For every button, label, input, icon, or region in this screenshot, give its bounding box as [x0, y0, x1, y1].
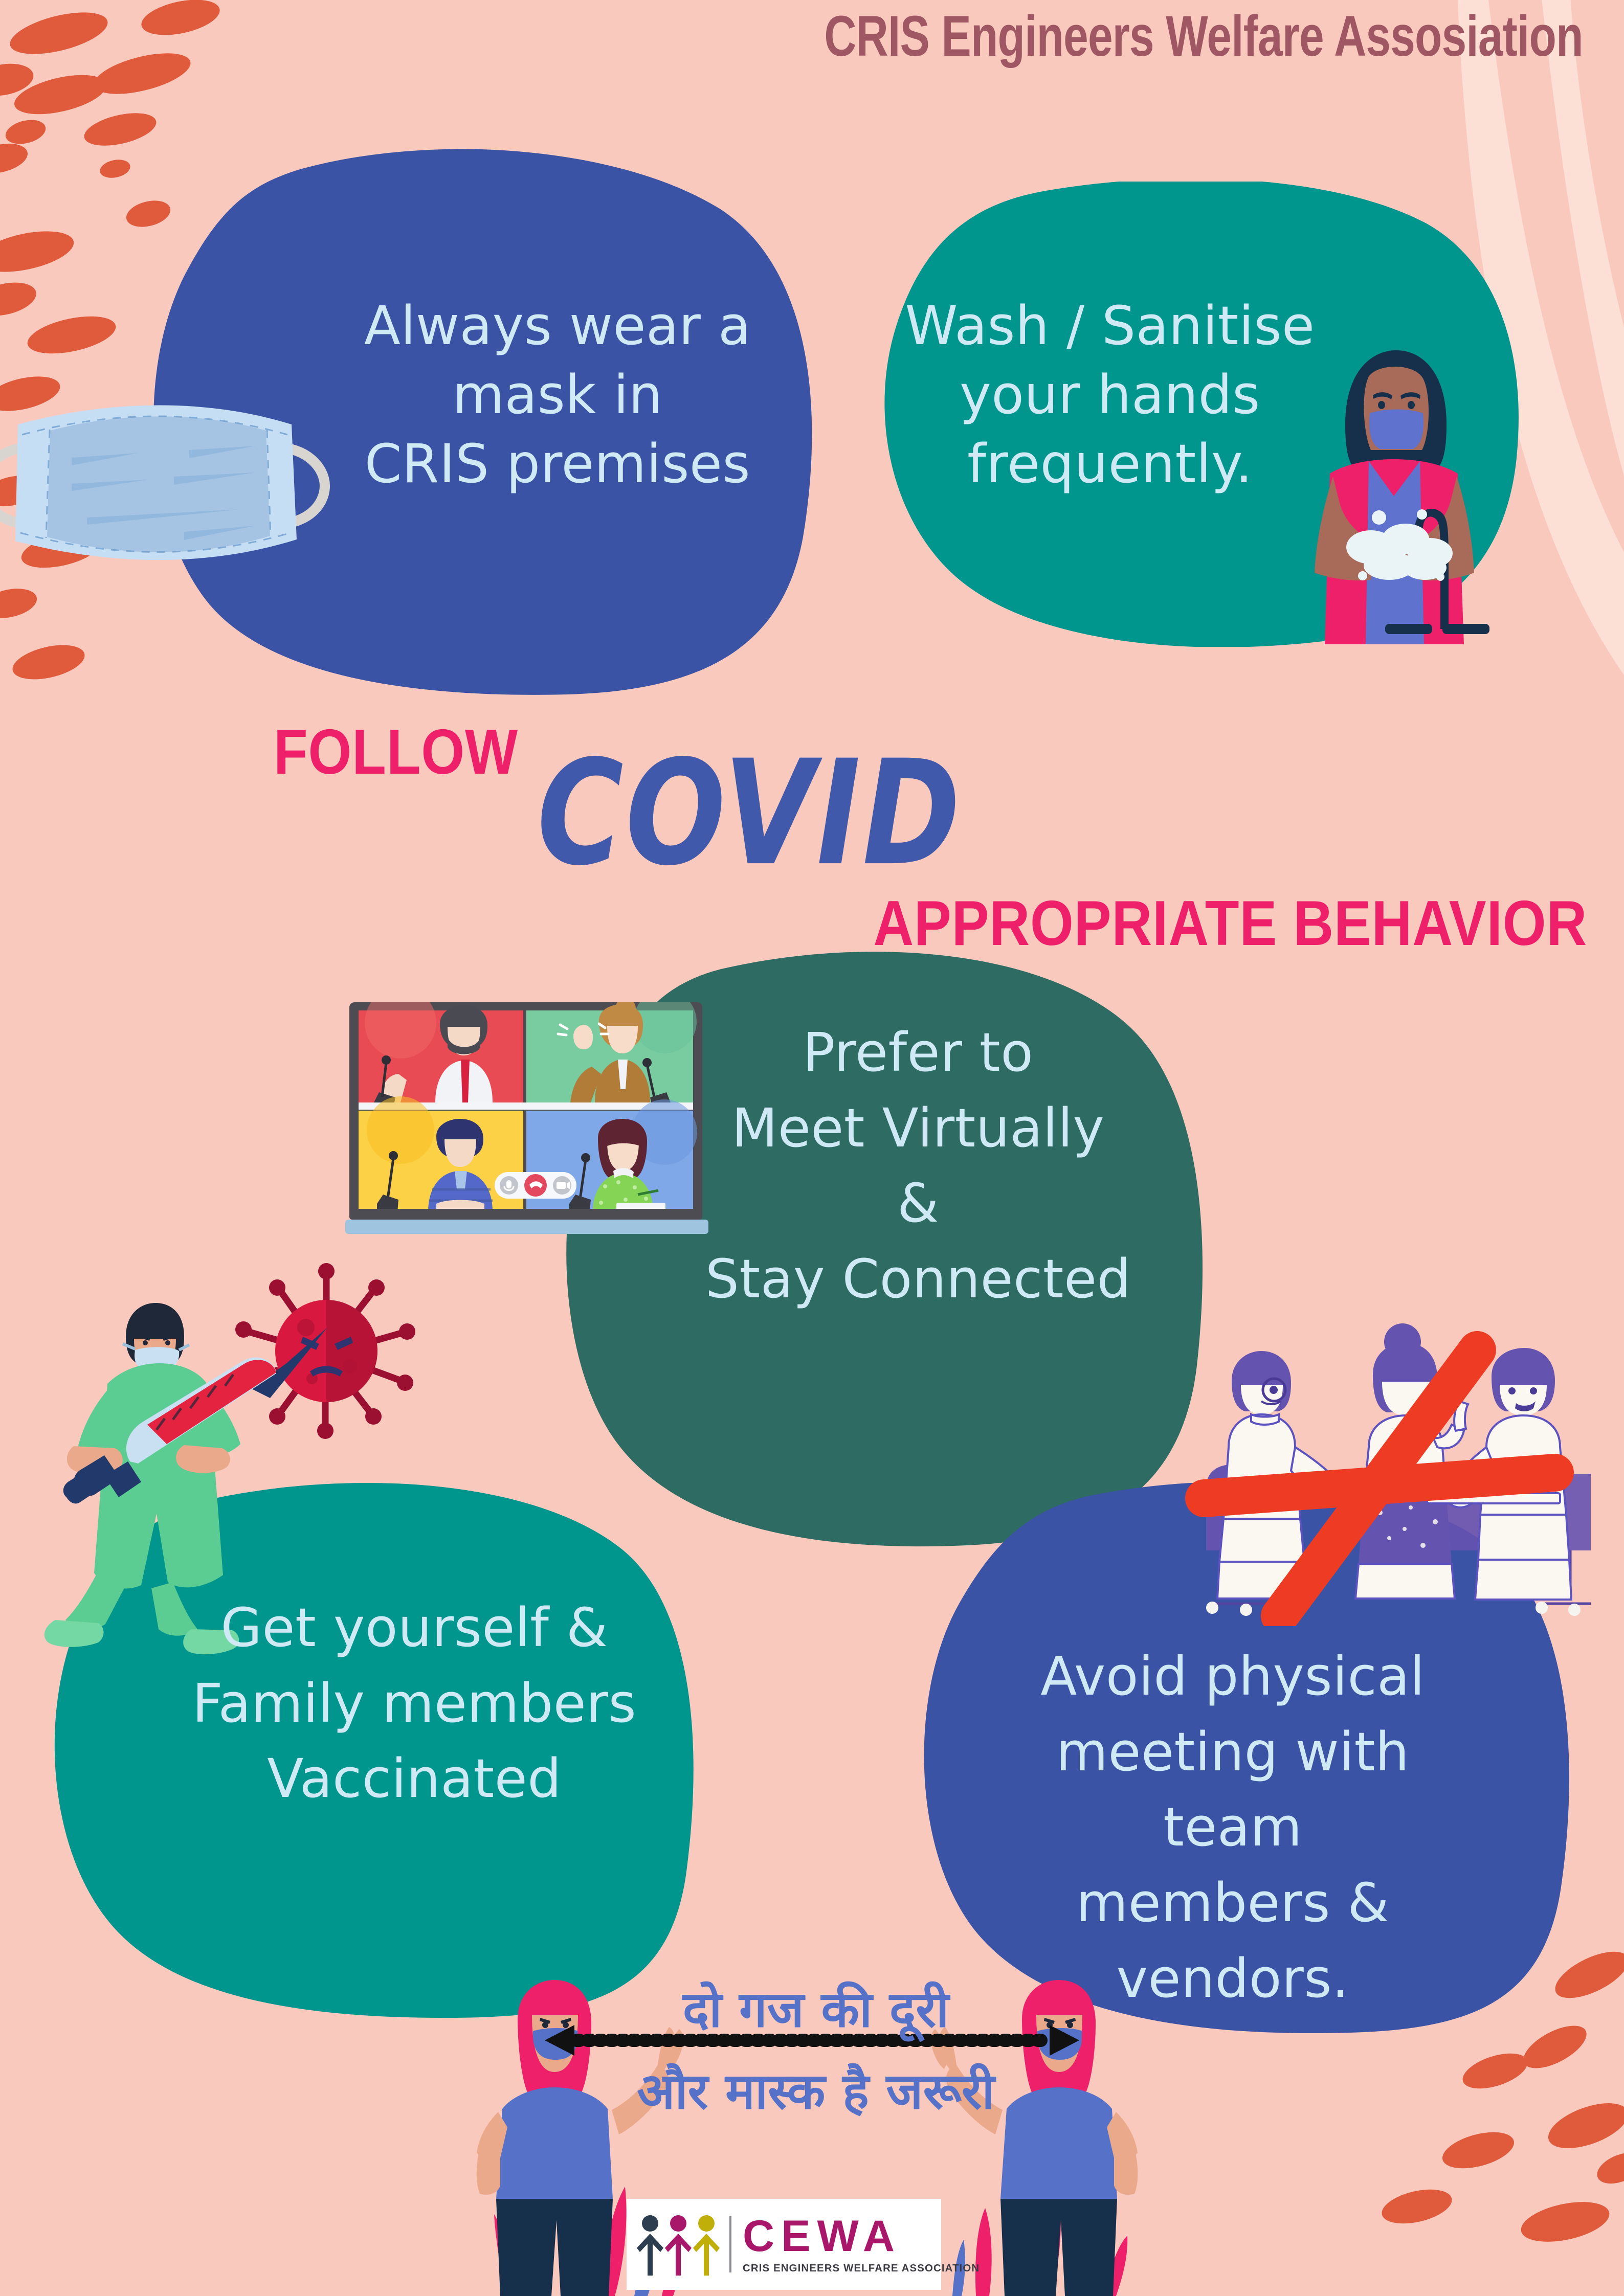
logo-figures-icon [634, 2211, 723, 2278]
covid-awareness-poster: CRIS Engineers Welfare Assosiation Alway… [0, 0, 1624, 2296]
page-title: CRIS Engineers Welfare Assosiation [825, 3, 1583, 69]
logo-name: CEWA [743, 2214, 975, 2258]
headline-appropriate-behavior: APPROPRIATE BEHAVIOR [873, 887, 1587, 960]
video-call-screen-illustration [345, 1002, 708, 1258]
headline-follow: FOLLOW [274, 716, 518, 789]
logo-subtitle: CRIS ENGINEERS WELFARE ASSOCIATION [743, 2263, 980, 2275]
vaccination-message-text: Get yourself & Family members Vaccinated [184, 1590, 644, 1817]
hindi-slogan-line-2: और मास्क है जरूरी [532, 2056, 1100, 2123]
mask-message-text: Always wear a mask in CRIS premises [327, 291, 788, 499]
headline-covid: COVID [537, 729, 962, 897]
cewa-logo: CEWA CRIS ENGINEERS WELFARE ASSOCIATION [627, 2199, 941, 2290]
crossed-out-meeting-illustration [1151, 1319, 1591, 1626]
virtual-meeting-message-text: Prefer to Meet Virtually & Stay Connecte… [680, 1015, 1156, 1317]
logo-divider [729, 2216, 731, 2272]
surgical-mask-illustration [0, 358, 348, 588]
avoid-meeting-message-text: Avoid physical meeting with team members… [992, 1639, 1473, 2016]
angry-virus-illustration [235, 1263, 415, 1439]
hindi-slogan-line-1: दो गज की दूरी [558, 1974, 1074, 2041]
wash-hands-message-text: Wash / Sanitise your hands frequently. [900, 291, 1320, 499]
